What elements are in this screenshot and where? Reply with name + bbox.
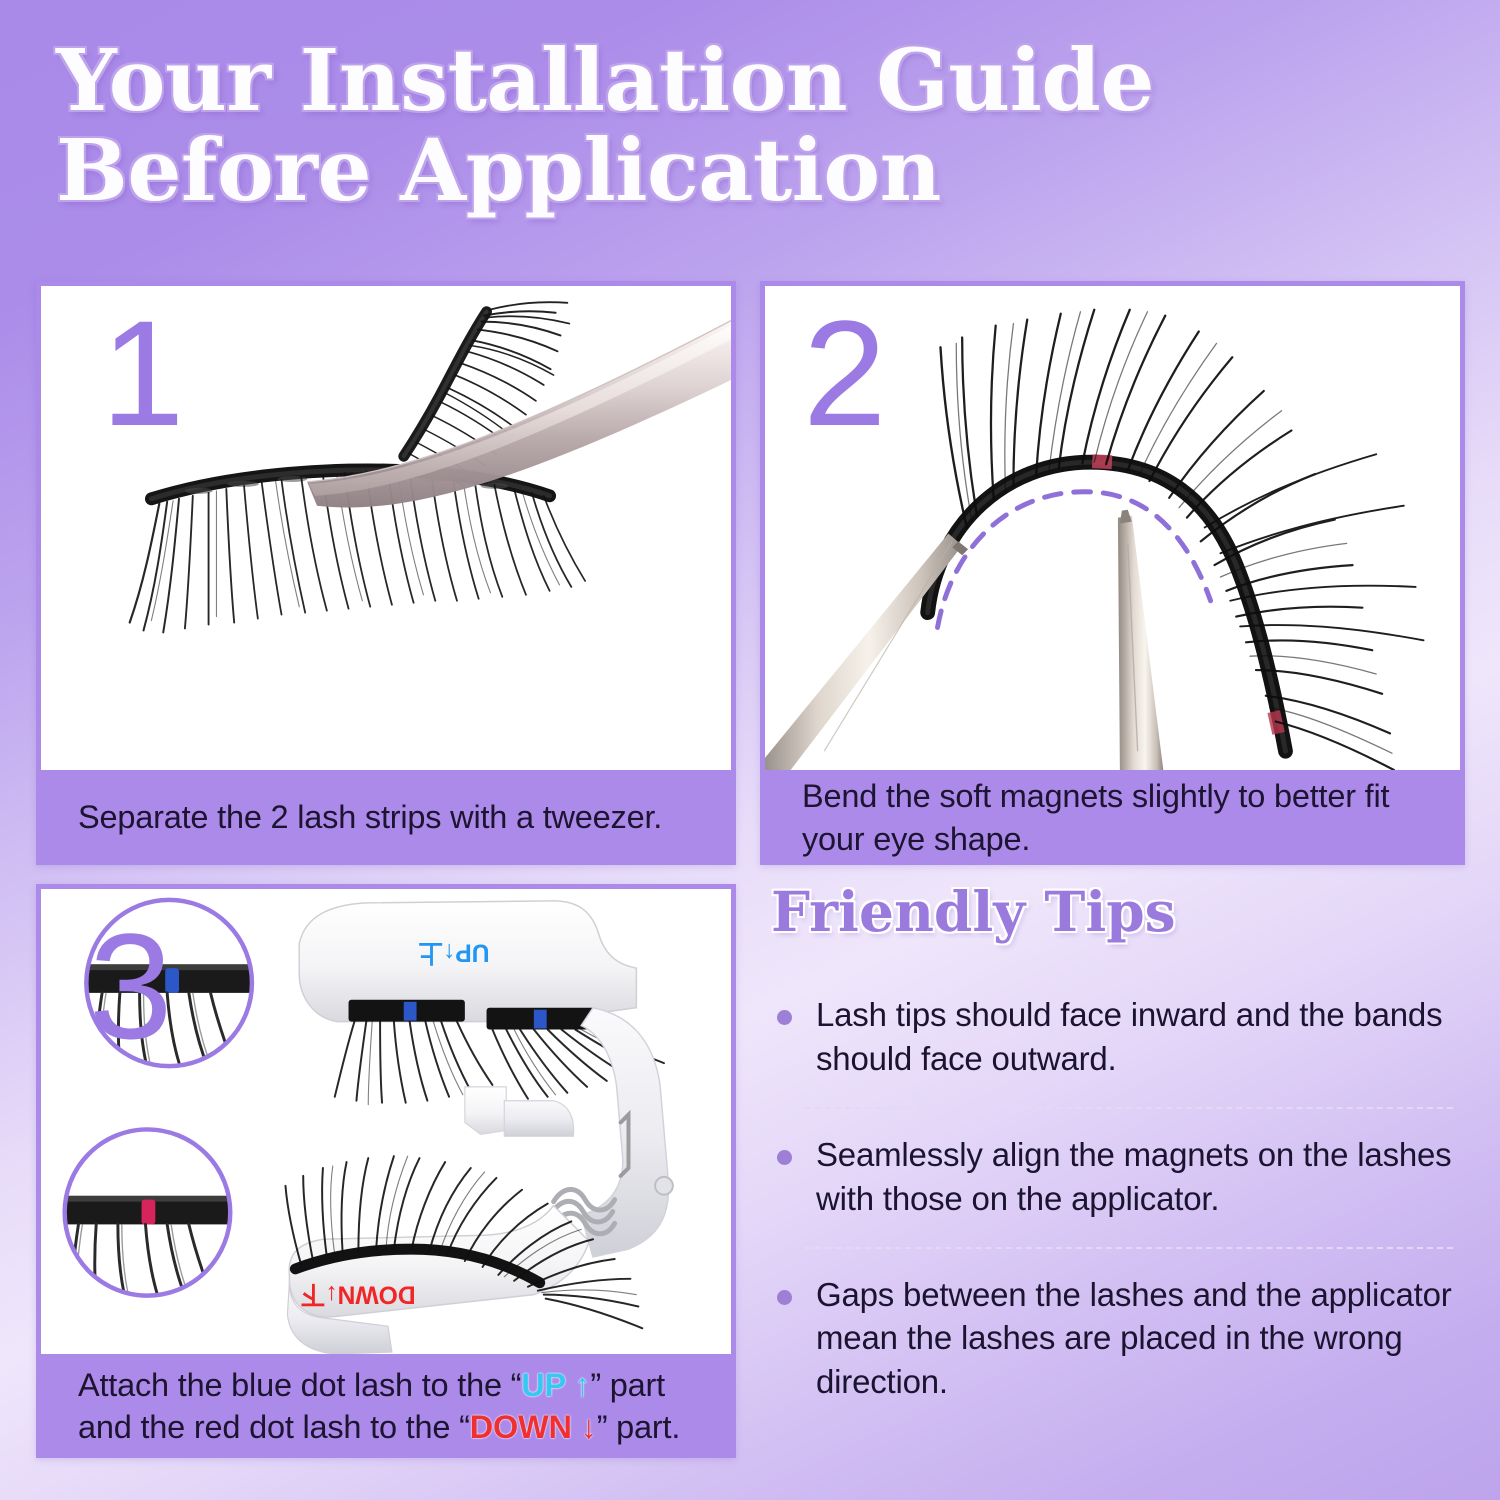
svg-text:UP↑上: UP↑上 <box>418 938 489 966</box>
tip-item: Lash tips should face inward and the ban… <box>763 993 1463 1081</box>
step-card-1: 1 <box>36 281 736 865</box>
infographic-page: Your Installation Guide Before Applicati… <box>0 0 1500 1500</box>
step-3-caption-part-1: Attach the blue dot lash to the “ <box>78 1367 521 1403</box>
step-1-caption-bar: Separate the 2 lash strips with a tweeze… <box>36 770 736 865</box>
step-number-1: 1 <box>101 298 184 448</box>
step-3-caption-bar: Attach the blue dot lash to the “UP ↑” p… <box>36 1354 736 1458</box>
step-1-caption: Separate the 2 lash strips with a tweeze… <box>78 796 662 838</box>
friendly-tips-section: Friendly Tips Lash tips should face inwa… <box>763 884 1463 1404</box>
step-3-caption: Attach the blue dot lash to the “UP ↑” p… <box>78 1364 680 1449</box>
step-1-photo: 1 <box>36 281 736 770</box>
tip-text: Lash tips should face inward and the ban… <box>816 993 1459 1081</box>
tip-item: Gaps between the lashes and the applicat… <box>763 1273 1463 1405</box>
step-card-3: 3 <box>36 884 736 1458</box>
step-number-3: 3 <box>89 911 172 1061</box>
friendly-tips-title: Friendly Tips <box>771 884 1463 939</box>
tip-separator <box>805 1247 1453 1249</box>
step-card-2: 2 <box>760 281 1465 865</box>
step-3-photo: 3 <box>36 884 736 1354</box>
down-label-inline: DOWN ↓ <box>470 1409 597 1445</box>
step-number-2: 2 <box>803 298 886 448</box>
tip-text: Gaps between the lashes and the applicat… <box>816 1273 1459 1405</box>
svg-text:DOWN↓下: DOWN↓下 <box>301 1281 416 1308</box>
tip-item: Seamlessly align the magnets on the lash… <box>763 1133 1463 1221</box>
step-3-caption-part-4: ” part. <box>597 1409 680 1445</box>
step-2-caption-bar: Bend the soft magnets slightly to better… <box>760 770 1465 865</box>
bullet-icon <box>777 1290 792 1305</box>
tip-text: Seamlessly align the magnets on the lash… <box>816 1133 1459 1221</box>
step-2-photo: 2 <box>760 281 1465 770</box>
page-title: Your Installation Guide Before Applicati… <box>56 36 1396 216</box>
step-2-caption: Bend the soft magnets slightly to better… <box>802 775 1423 860</box>
step-3-caption-part-3: and the red dot lash to the “ <box>78 1409 470 1445</box>
tip-separator <box>805 1107 1453 1109</box>
bullet-icon <box>777 1010 792 1025</box>
up-label-inline: UP ↑ <box>521 1367 590 1403</box>
step-3-caption-part-2: ” part <box>590 1367 665 1403</box>
bullet-icon <box>777 1150 792 1165</box>
